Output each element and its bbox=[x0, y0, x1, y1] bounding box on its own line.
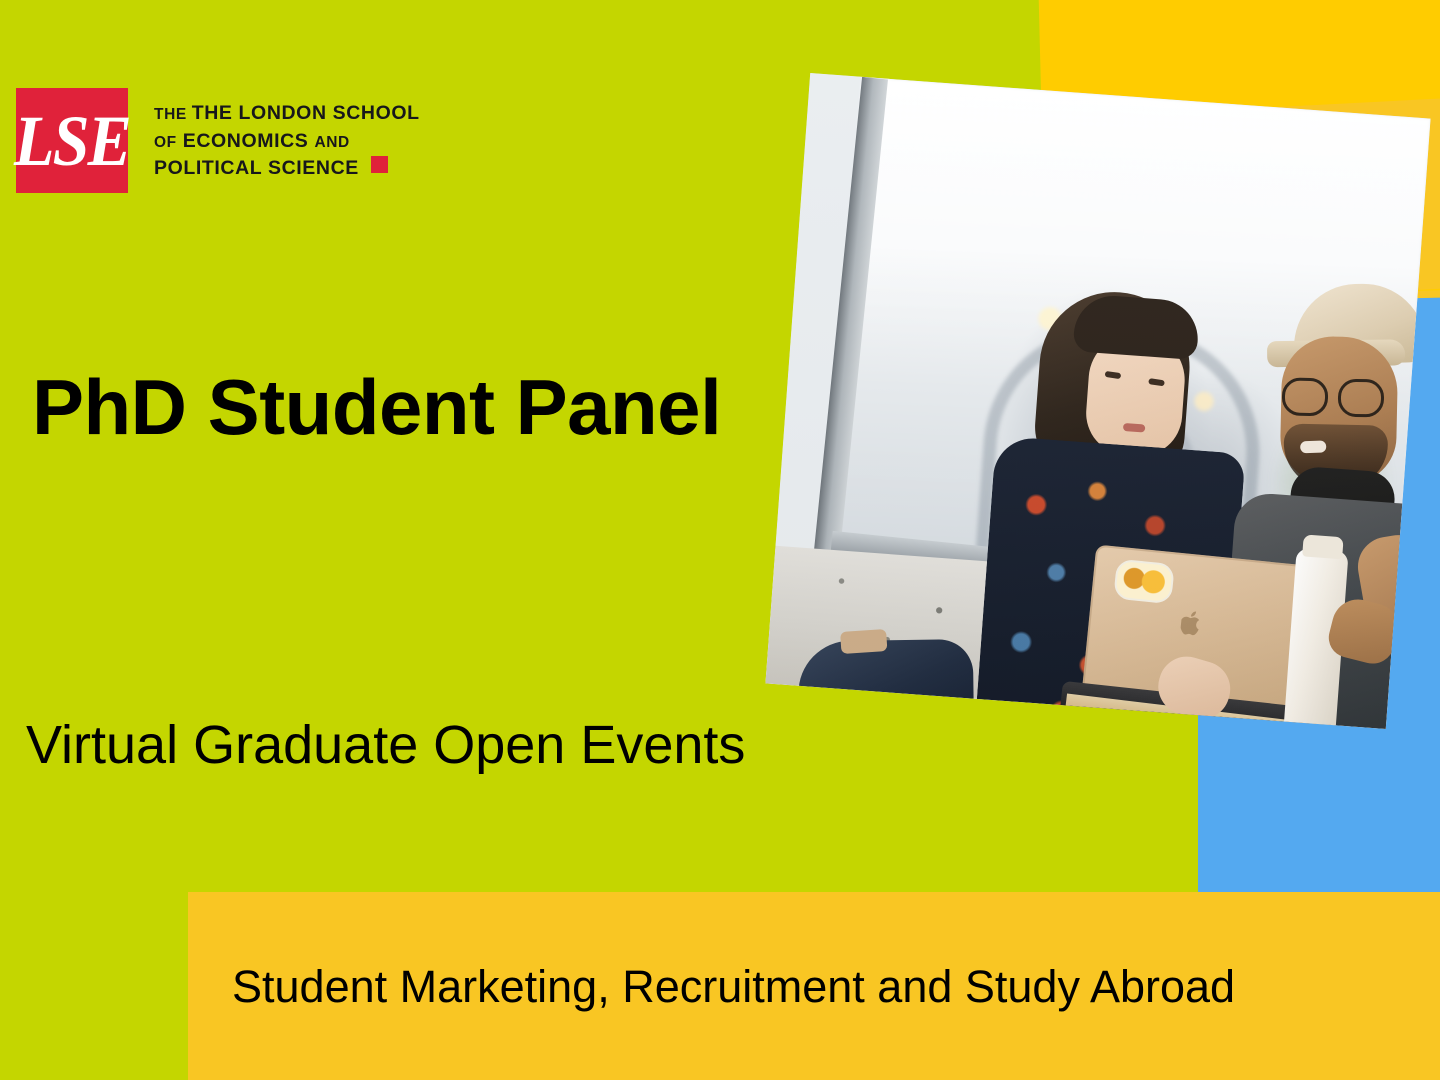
photo-woman-lips bbox=[1123, 423, 1146, 433]
slide-footer-text: Student Marketing, Recruitment and Study… bbox=[232, 962, 1432, 1012]
slide-subtitle: Virtual Graduate Open Events bbox=[26, 716, 926, 775]
lse-logo-and: AND bbox=[314, 132, 349, 154]
lse-logo-red-square-icon bbox=[371, 156, 388, 173]
photo-backpack-strap bbox=[840, 629, 887, 654]
photo-bottle-cap bbox=[1302, 534, 1344, 559]
lse-logo-political-science: POLITICAL SCIENCE bbox=[154, 155, 359, 183]
lse-logo-mark-label: LSE bbox=[14, 105, 130, 177]
photo-laptop-sticker bbox=[1113, 559, 1175, 605]
background-green-lower-left bbox=[0, 880, 190, 1080]
apple-logo-icon bbox=[1180, 609, 1204, 637]
lse-logo-london-school: THE LONDON SCHOOL bbox=[192, 100, 420, 128]
lse-logo-the: THE bbox=[154, 104, 192, 126]
background-blue-panel bbox=[1198, 700, 1440, 892]
lse-logo-wordmark: THE THE LONDON SCHOOL OF ECONOMICS AND P… bbox=[154, 88, 420, 183]
lse-logo-line-3: POLITICAL SCIENCE bbox=[154, 155, 420, 183]
photo-scene bbox=[765, 73, 1430, 729]
lse-logo-mark: LSE bbox=[16, 88, 128, 193]
photo-man-mouth bbox=[1300, 440, 1326, 453]
lse-logo-economics: ECONOMICS bbox=[177, 128, 315, 156]
photo-man-glasses bbox=[1280, 377, 1397, 413]
slide-canvas: LSE THE THE LONDON SCHOOL OF ECONOMICS A… bbox=[0, 0, 1440, 1080]
slide-title: PhD Student Panel bbox=[32, 352, 732, 463]
lse-logo-of: OF bbox=[154, 132, 177, 154]
bear-sticker-icon bbox=[1122, 565, 1166, 595]
lse-logo: LSE THE THE LONDON SCHOOL OF ECONOMICS A… bbox=[16, 88, 420, 193]
lse-logo-line-1: THE THE LONDON SCHOOL bbox=[154, 100, 420, 128]
student-photo bbox=[765, 73, 1430, 729]
lse-logo-line-2: OF ECONOMICS AND bbox=[154, 128, 420, 156]
